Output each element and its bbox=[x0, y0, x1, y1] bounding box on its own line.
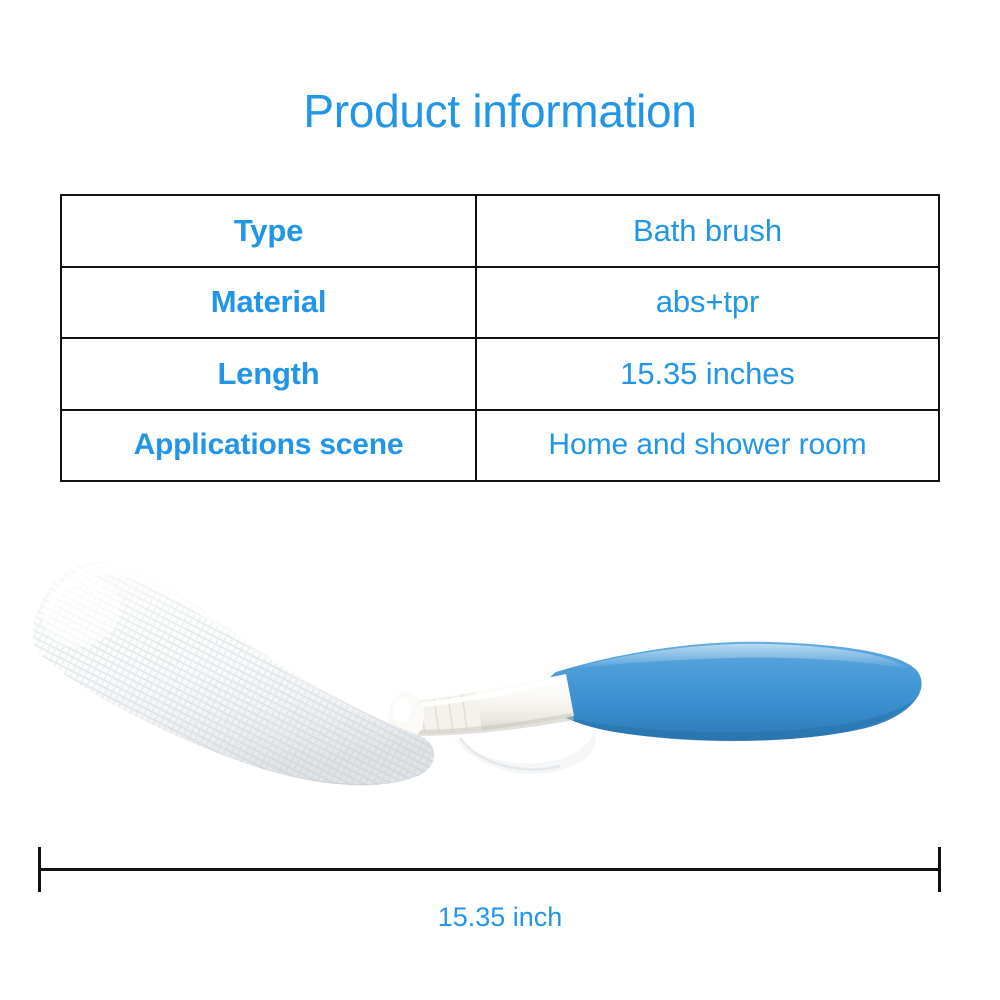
spec-label-material: Material bbox=[61, 267, 476, 339]
specification-table: Type Bath brush Material abs+tpr Length … bbox=[60, 194, 940, 482]
mesh-sponge-head bbox=[20, 550, 450, 794]
spec-value-applications-scene: Home and shower room bbox=[476, 410, 939, 482]
spec-label-type: Type bbox=[61, 195, 476, 267]
bath-brush-illustration bbox=[0, 520, 1000, 820]
product-information-infographic: Product information Type Bath brush Mate… bbox=[0, 0, 1000, 1000]
spec-label-applications-scene: Applications scene bbox=[61, 410, 476, 482]
spec-value-material: abs+tpr bbox=[476, 267, 939, 339]
table-row: Material abs+tpr bbox=[61, 267, 939, 339]
left-end-tick bbox=[38, 847, 41, 892]
dimension-caption: 15.35 inch bbox=[0, 902, 1000, 933]
page-title: Product information bbox=[0, 84, 1000, 138]
right-end-tick bbox=[938, 847, 941, 892]
spec-value-type: Bath brush bbox=[476, 195, 939, 267]
grip-blue-tpr bbox=[546, 642, 921, 741]
spec-label-length: Length bbox=[61, 338, 476, 410]
product-photo bbox=[0, 520, 1000, 820]
dimension-indicator: 15.35 inch bbox=[0, 840, 1000, 960]
table-row: Type Bath brush bbox=[61, 195, 939, 267]
table-row: Applications scene Home and shower room bbox=[61, 410, 939, 482]
table-row: Length 15.35 inches bbox=[61, 338, 939, 410]
dimension-line bbox=[38, 868, 941, 871]
spec-value-length: 15.35 inches bbox=[476, 338, 939, 410]
